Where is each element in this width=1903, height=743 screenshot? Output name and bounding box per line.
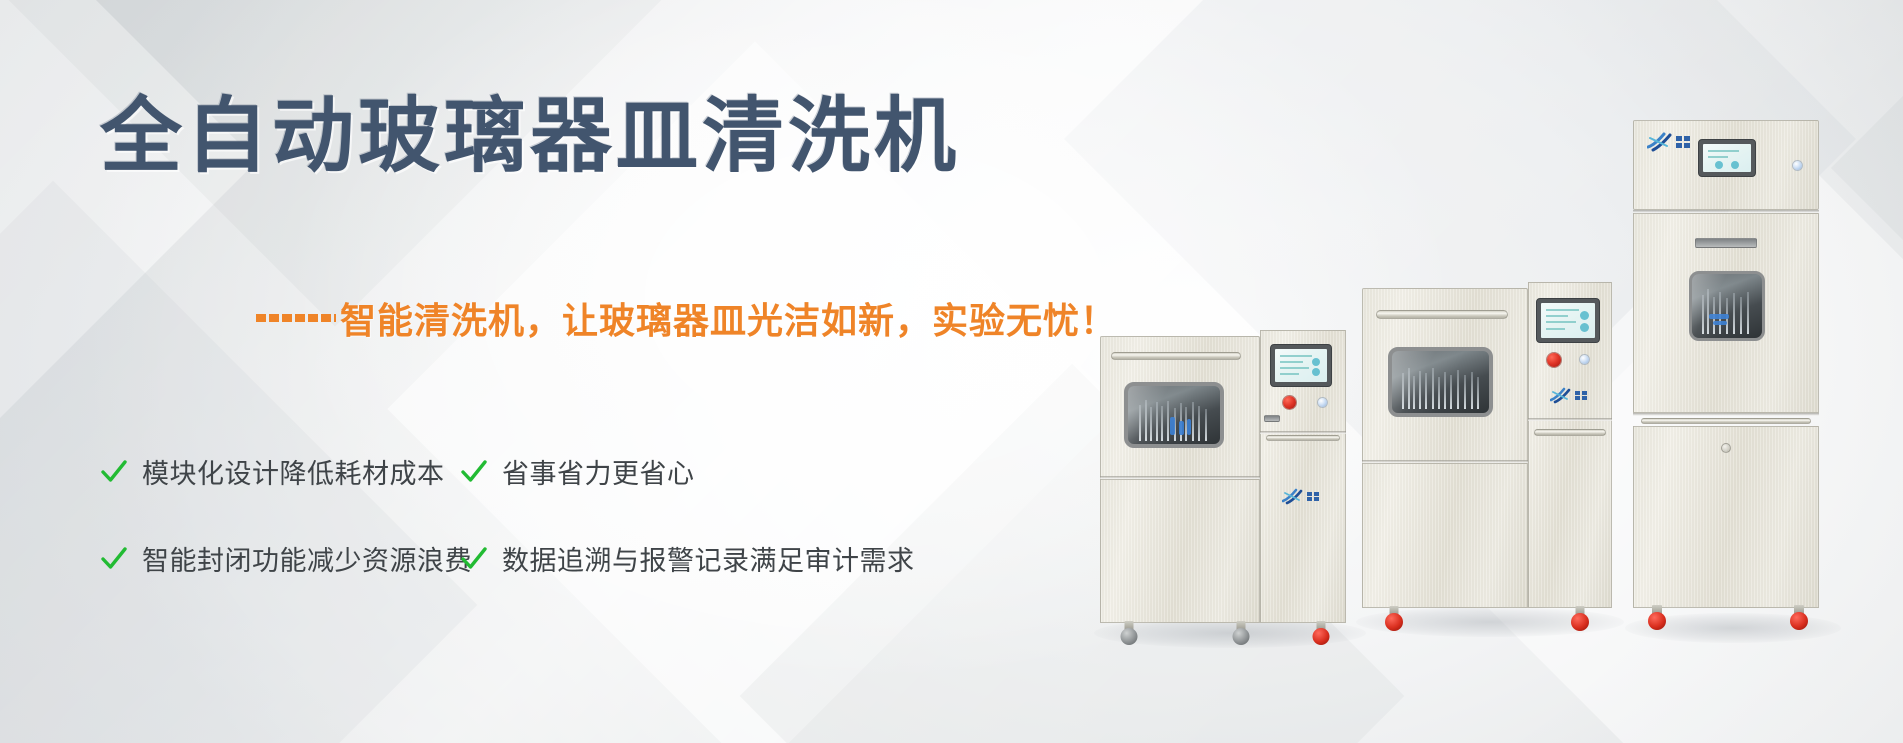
brand-text-blocks xyxy=(1575,391,1587,401)
door-handle xyxy=(1641,418,1811,424)
viewing-window xyxy=(1388,347,1493,417)
feature-label: 模块化设计降低耗材成本 xyxy=(142,452,445,491)
touchscreen-hmi[interactable] xyxy=(1698,139,1756,177)
door-handle xyxy=(1376,310,1508,319)
caster-red xyxy=(1384,606,1403,634)
check-icon xyxy=(460,545,488,573)
lower-chamber-panel xyxy=(1362,463,1528,608)
feature-item: 智能封闭功能减少资源浪费 xyxy=(100,539,460,578)
check-icon xyxy=(460,458,488,486)
check-icon xyxy=(100,458,128,486)
emergency-stop-button[interactable] xyxy=(1547,353,1561,367)
caster-red xyxy=(1570,606,1589,634)
banner-subtitle: 智能清洗机，让玻璃器皿光洁如新，实验无忧！ xyxy=(256,292,1117,344)
indicator-light xyxy=(1318,398,1327,407)
brand-mark-icon xyxy=(1550,387,1572,404)
dash-rule-icon xyxy=(256,314,336,322)
banner-text-content: 全自动玻璃器皿清洗机 智能清洗机，让玻璃器皿光洁如新，实验无忧！ 模块化设计降低… xyxy=(0,0,1120,743)
caster xyxy=(1312,621,1330,647)
feature-list: 模块化设计降低耗材成本 省事省力更省心 智能封闭功能减少资源浪费 数据追溯与报警… xyxy=(100,452,915,578)
emergency-stop-button[interactable] xyxy=(1283,396,1296,409)
caster xyxy=(1232,621,1250,647)
check-icon xyxy=(100,545,128,573)
service-cabinet-panel xyxy=(1633,426,1819,608)
product-image-undercounter-washer xyxy=(1100,318,1353,648)
service-door-handle xyxy=(1266,435,1340,441)
caster xyxy=(1647,605,1666,633)
lower-chamber-panel xyxy=(1100,479,1260,623)
product-images xyxy=(1090,0,1903,743)
brand-logo xyxy=(1550,387,1587,404)
brand-logo xyxy=(1282,488,1319,505)
door-handle xyxy=(1111,352,1241,360)
brand-mark-icon xyxy=(1282,488,1304,505)
feature-label: 数据追溯与报警记录满足审计需求 xyxy=(502,539,915,578)
product-banner: 全自动玻璃器皿清洗机 智能清洗机，让玻璃器皿光洁如新，实验无忧！ 模块化设计降低… xyxy=(0,0,1903,743)
touchscreen-hmi[interactable] xyxy=(1270,344,1332,387)
product-image-benchtop-washer xyxy=(1362,272,1615,647)
viewing-window xyxy=(1124,382,1224,448)
feature-label: 智能封闭功能减少资源浪费 xyxy=(142,539,472,578)
brand-logo xyxy=(1647,132,1690,152)
brand-text-blocks xyxy=(1676,136,1690,148)
feature-item: 数据追溯与报警记录满足审计需求 xyxy=(460,539,915,578)
vent-slot xyxy=(1264,415,1280,422)
caster xyxy=(1789,605,1808,633)
panel-seam xyxy=(1260,431,1346,434)
banner-subtitle-text: 智能清洗机，让玻璃器皿光洁如新，实验无忧！ xyxy=(340,292,1117,344)
indicator-light xyxy=(1580,355,1589,364)
brand-mark-icon xyxy=(1647,132,1673,152)
service-door-handle xyxy=(1534,429,1606,436)
feature-label: 省事省力更省心 xyxy=(502,452,695,491)
page-title: 全自动玻璃器皿清洗机 xyxy=(100,96,960,178)
viewing-window xyxy=(1689,271,1765,341)
panel-seam xyxy=(1633,413,1819,416)
panel-seam xyxy=(1528,418,1612,421)
feature-item: 省事省力更省心 xyxy=(460,452,915,491)
cabinet-latch[interactable] xyxy=(1721,443,1731,453)
brand-text-blocks xyxy=(1307,492,1319,502)
caster xyxy=(1120,621,1138,647)
indicator-light xyxy=(1793,161,1802,170)
feature-item: 模块化设计降低耗材成本 xyxy=(100,452,460,491)
product-image-tall-cabinet-washer xyxy=(1633,108,1833,648)
touchscreen-hmi[interactable] xyxy=(1536,298,1600,343)
vent-slot xyxy=(1695,238,1757,248)
